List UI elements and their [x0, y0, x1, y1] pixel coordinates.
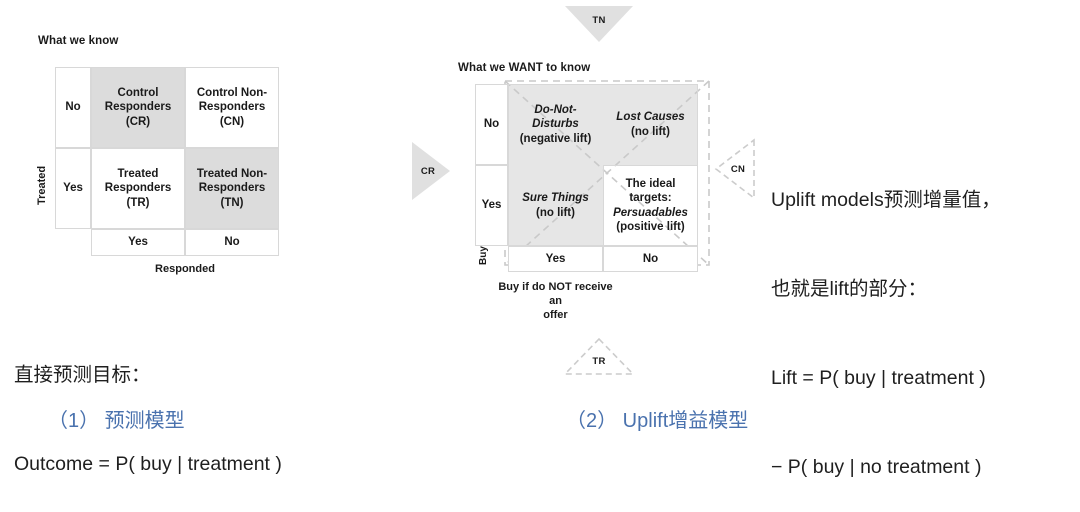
left-panel-x-axis-label: Responded	[91, 263, 279, 277]
left-cell-control-responders: Control Responders (CR)	[91, 67, 185, 148]
cell-line: (CN)	[220, 116, 244, 128]
cell-line: targets:	[629, 192, 671, 204]
left-cell-treated-non-responders: Treated Non- Responders (TN)	[185, 148, 279, 229]
cell-line: (negative lift)	[520, 133, 592, 145]
right-col-header-yes: Yes	[508, 246, 603, 272]
cell-line: Lost Causes	[616, 111, 684, 123]
right-formula-line2: 也就是lift的部分：	[771, 275, 1001, 305]
cell-line: (TR)	[127, 197, 150, 209]
cell-line: (TN)	[220, 197, 243, 209]
arrow-tn: TN	[563, 4, 635, 44]
cell-line: Persuadables	[613, 207, 688, 219]
cell-line: (no lift)	[631, 126, 670, 138]
left-cell-treated-responders: Treated Responders (TR)	[91, 148, 185, 229]
right-formula-block: Uplift models预测增量值， 也就是lift的部分： Lift = P…	[771, 127, 1001, 512]
right-col-header-no: No	[603, 246, 698, 272]
caption-left: （1） 预测模型	[48, 404, 185, 433]
cell-line: Responders	[105, 101, 171, 113]
cell-line: Control	[118, 87, 159, 99]
x-axis-label-line1: Buy if do NOT receive an	[498, 281, 613, 309]
arrow-cr-label: CR	[421, 166, 435, 177]
left-panel: What we know Treated No Yes Control Resp…	[0, 0, 400, 290]
left-panel-y-axis-label: Treated	[36, 166, 48, 205]
left-formula-line1: 直接预测目标：	[14, 361, 282, 391]
arrow-tn-label: TN	[592, 15, 605, 26]
left-col-header-no: No	[185, 229, 279, 256]
cell-line: Responders	[105, 182, 171, 194]
left-row-header-no: No	[55, 67, 91, 148]
right-row-header-no: No	[475, 84, 508, 165]
arrow-cr: CR	[410, 140, 452, 202]
right-cell-sure-things: Sure Things (no lift)	[508, 165, 603, 246]
right-formula-line4: − P( buy | no treatment )	[771, 453, 1001, 483]
arrow-cn: CN	[714, 138, 756, 200]
cell-line: Responders	[199, 182, 265, 194]
arrow-tr-label: TR	[592, 356, 605, 367]
cell-line: (positive lift)	[616, 221, 684, 233]
cell-line: (no lift)	[536, 207, 575, 219]
right-formula-line3: Lift = P( buy | treatment )	[771, 364, 1001, 394]
caption-right: （2） Uplift增益模型	[566, 404, 748, 433]
cell-line: Disturbs	[532, 118, 579, 130]
left-formula-line2: Outcome = P( buy | treatment )	[14, 450, 282, 480]
left-cell-control-non-responders: Control Non- Responders (CN)	[185, 67, 279, 148]
right-cell-lost-causes: Lost Causes (no lift)	[603, 84, 698, 165]
right-panel-title: What we WANT to know	[458, 62, 590, 74]
left-col-header-yes: Yes	[91, 229, 185, 256]
cell-line: (CR)	[126, 116, 150, 128]
cell-line: Sure Things	[522, 192, 588, 204]
left-panel-title: What we know	[38, 35, 118, 47]
cell-line: Treated	[118, 168, 159, 180]
cell-line: Responders	[199, 101, 265, 113]
right-panel-x-axis-label: Buy if do NOT receive an offer	[498, 281, 613, 322]
cell-line: Treated Non-	[197, 168, 267, 180]
left-row-header-yes: Yes	[55, 148, 91, 229]
x-axis-label-line2: offer	[498, 309, 613, 323]
cell-line: Do-Not-	[534, 104, 576, 116]
arrow-tr: TR	[563, 336, 635, 376]
cell-line: The ideal	[626, 178, 676, 190]
right-cell-do-not-disturbs: Do-Not- Disturbs (negative lift)	[508, 84, 603, 165]
cell-line: Control Non-	[197, 87, 267, 99]
right-cell-persuadables: The ideal targets: Persuadables (positiv…	[603, 165, 698, 246]
right-row-header-yes: Yes	[475, 165, 508, 246]
right-formula-line1: Uplift models预测增量值，	[771, 186, 1001, 216]
arrow-cn-label: CN	[731, 164, 745, 175]
